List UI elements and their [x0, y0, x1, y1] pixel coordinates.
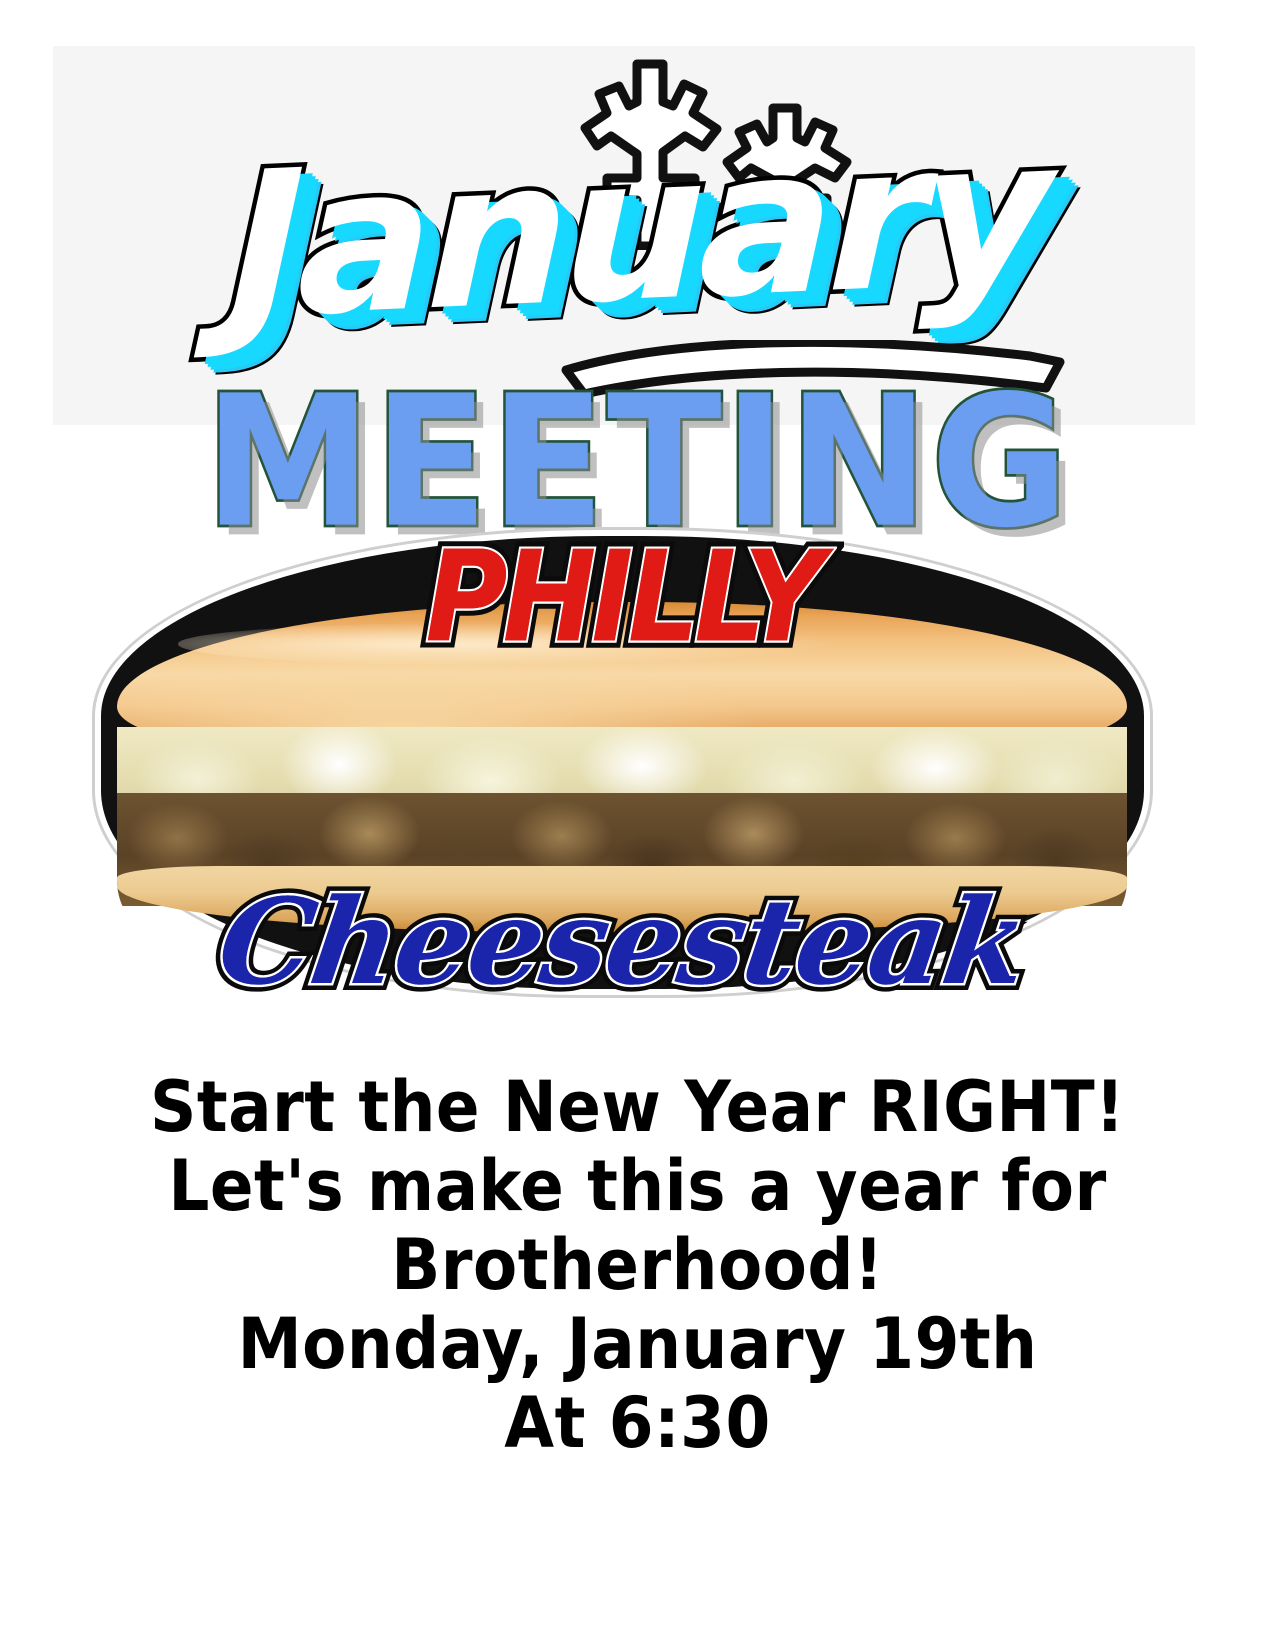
announcement-line-1: Start the New Year RIGHT! [51, 1068, 1224, 1147]
announcement-line-2: Let's make this a year for [51, 1147, 1224, 1226]
cheesesteak-label: Cheesesteak [87, 883, 1159, 1001]
january-headline-text: January [0, 102, 1275, 358]
announcement-line-5: At 6:30 [51, 1384, 1224, 1463]
announcement-body: Start the New Year RIGHT! Let's make thi… [51, 1068, 1224, 1463]
announcement-line-3: Brotherhood! [51, 1226, 1224, 1305]
philly-cheesesteak-sticker: PHILLY PHILLY PHILLY Cheesesteak Cheeses… [95, 530, 1150, 995]
poster-canvas: January MEETING PHILLY PHILLY PHILLY Che… [0, 0, 1275, 1650]
philly-label: PHILLY [95, 535, 1150, 660]
announcement-line-4: Monday, January 19th [51, 1305, 1224, 1384]
